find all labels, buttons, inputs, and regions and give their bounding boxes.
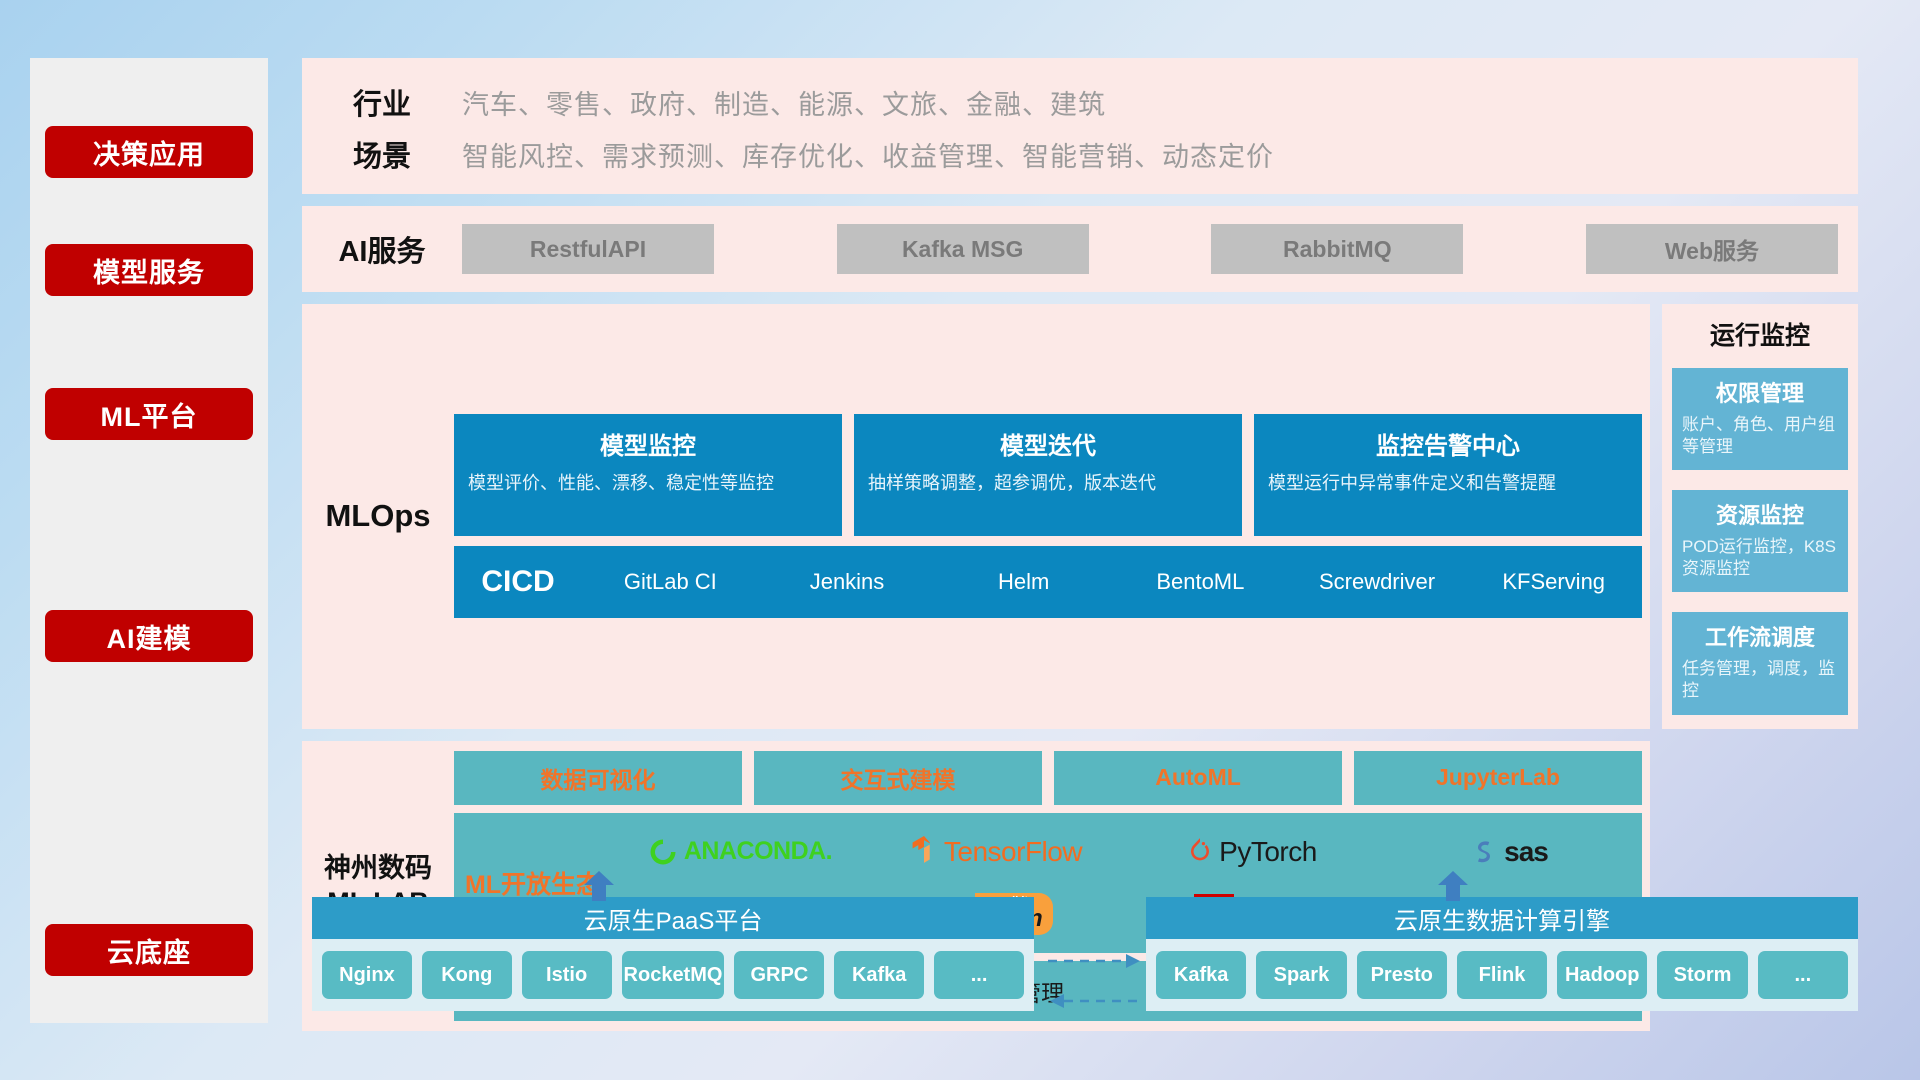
rail-tag-decision-apps[interactable]: 决策应用 (45, 126, 253, 178)
stage-rail: 决策应用 模型服务 ML平台 AI建模 云底座 (30, 58, 268, 1023)
up-arrow-icon (1436, 871, 1470, 901)
cloud-native-paas-group: 云原生PaaS平台 Nginx Kong Istio RocketMQ GRPC… (312, 897, 1034, 1011)
lab-tab-interactive-modeling[interactable]: 交互式建模 (754, 751, 1042, 805)
monitor-title: 运行监控 (1672, 316, 1848, 352)
monitor-card-workflow[interactable]: 工作流调度 任务管理，调度，监控 (1672, 612, 1848, 714)
cicd-item-gitlab-ci[interactable]: GitLab CI (582, 570, 759, 594)
scenario-key: 场景 (302, 133, 462, 175)
decision-apps-band: 行业 汽车、零售、政府、制造、能源、文旅、金融、建筑 场景 智能风控、需求预测、… (302, 58, 1858, 194)
cicd-label: CICD (454, 565, 582, 599)
pytorch-flame-icon (1187, 837, 1213, 867)
mlops-card-alert-center[interactable]: 监控告警中心 模型运行中异常事件定义和告警提醒 (1254, 414, 1642, 536)
mlops-band: MLOps 模型监控 模型评价、性能、漂移、稳定性等监控 模型迭代 抽样策略调整… (302, 304, 1650, 729)
sas-wordmark: sas (1504, 836, 1548, 868)
paas-title: 云原生PaaS平台 (312, 897, 1034, 939)
card-title: 工作流调度 (1682, 620, 1838, 652)
rail-tag-label: 云底座 (107, 931, 191, 970)
card-title: 资源监控 (1682, 498, 1838, 530)
paas-chip-more[interactable]: ... (934, 951, 1024, 999)
engine-chip-presto[interactable]: Presto (1357, 951, 1447, 999)
tensorflow-mark-icon (910, 836, 938, 868)
card-title: 权限管理 (1682, 376, 1838, 408)
mlops-body: 模型监控 模型评价、性能、漂移、稳定性等监控 模型迭代 抽样策略调整，超参调优，… (454, 414, 1642, 618)
mlops-key: MLOps (302, 498, 454, 534)
monitor-card-permission[interactable]: 权限管理 账户、角色、用户组等管理 (1672, 368, 1848, 470)
paas-chip-kong[interactable]: Kong (422, 951, 512, 999)
paas-chip-kafka[interactable]: Kafka (834, 951, 924, 999)
engine-chip-more[interactable]: ... (1758, 951, 1848, 999)
anaconda-wordmark: ANACONDA. (684, 837, 832, 866)
paas-chip-grpc[interactable]: GRPC (734, 951, 824, 999)
cloud-base-section: 云原生PaaS平台 Nginx Kong Istio RocketMQ GRPC… (302, 873, 1858, 1043)
card-desc: 任务管理，调度，监控 (1682, 658, 1838, 702)
cicd-item-helm[interactable]: Helm (935, 570, 1112, 594)
rail-tag-label: AI建模 (107, 617, 192, 656)
paas-chip-istio[interactable]: Istio (522, 951, 612, 999)
ai-service-chip-list: RestfulAPI Kafka MSG RabbitMQ Web服务 (462, 224, 1858, 274)
cicd-item-screwdriver[interactable]: Screwdriver (1289, 570, 1466, 594)
rail-tag-cloud-base[interactable]: 云底座 (45, 924, 253, 976)
lab-tab-automl[interactable]: AutoML (1054, 751, 1342, 805)
mlops-card-model-monitoring[interactable]: 模型监控 模型评价、性能、漂移、稳定性等监控 (454, 414, 842, 536)
data-engine-chip-list: Kafka Spark Presto Flink Hadoop Storm ..… (1146, 939, 1858, 1011)
rail-tag-model-service[interactable]: 模型服务 (45, 244, 253, 296)
mlops-monitor-row: MLOps 模型监控 模型评价、性能、漂移、稳定性等监控 模型迭代 抽样策略调整… (302, 304, 1858, 729)
engine-chip-kafka[interactable]: Kafka (1156, 951, 1246, 999)
card-title: 模型迭代 (868, 426, 1228, 461)
engine-chip-hadoop[interactable]: Hadoop (1557, 951, 1647, 999)
card-desc: 账户、角色、用户组等管理 (1682, 414, 1838, 458)
scenario-value: 智能风控、需求预测、库存优化、收益管理、智能营销、动态定价 (462, 135, 1274, 174)
paas-chip-list: Nginx Kong Istio RocketMQ GRPC Kafka ... (312, 939, 1034, 1011)
scenario-row: 场景 智能风控、需求预测、库存优化、收益管理、智能营销、动态定价 (302, 128, 1858, 180)
card-desc: 抽样策略调整，超参调优，版本迭代 (868, 471, 1228, 495)
anaconda-mark-icon (648, 837, 678, 867)
rail-tag-label: 决策应用 (93, 133, 205, 172)
cicd-item-bentoml[interactable]: BentoML (1112, 570, 1289, 594)
pytorch-wordmark: PyTorch (1219, 836, 1317, 868)
mlops-card-list: 模型监控 模型评价、性能、漂移、稳定性等监控 模型迭代 抽样策略调整，超参调优，… (454, 414, 1642, 536)
lab-tab-jupyterlab[interactable]: JupyterLab (1354, 751, 1642, 805)
cloud-native-data-engine-group: 云原生数据计算引擎 Kafka Spark Presto Flink Hadoo… (1146, 897, 1858, 1011)
cicd-item-list: GitLab CI Jenkins Helm BentoML Screwdriv… (582, 570, 1642, 594)
engine-chip-storm[interactable]: Storm (1657, 951, 1747, 999)
ai-chip-kafka-msg[interactable]: Kafka MSG (837, 224, 1089, 274)
industry-row: 行业 汽车、零售、政府、制造、能源、文旅、金融、建筑 (302, 76, 1858, 128)
cicd-bar: CICD GitLab CI Jenkins Helm BentoML Scre… (454, 546, 1642, 618)
runtime-monitor-band: 运行监控 权限管理 账户、角色、用户组等管理 资源监控 POD运行监控，K8S资… (1662, 304, 1858, 729)
data-engine-title: 云原生数据计算引擎 (1146, 897, 1858, 939)
up-arrow-icon (582, 871, 616, 901)
ai-chip-rabbitmq[interactable]: RabbitMQ (1211, 224, 1463, 274)
card-desc: POD运行监控，K8S资源监控 (1682, 536, 1838, 580)
cicd-item-jenkins[interactable]: Jenkins (759, 570, 936, 594)
card-title: 监控告警中心 (1268, 426, 1628, 461)
industry-value: 汽车、零售、政府、制造、能源、文旅、金融、建筑 (462, 83, 1106, 122)
ml-lab-tab-list: 数据可视化 交互式建模 AutoML JupyterLab (454, 751, 1642, 805)
ai-service-band: AI服务 RestfulAPI Kafka MSG RabbitMQ Web服务 (302, 206, 1858, 292)
card-desc: 模型评价、性能、漂移、稳定性等监控 (468, 471, 828, 495)
paas-chip-nginx[interactable]: Nginx (322, 951, 412, 999)
card-title: 模型监控 (468, 426, 828, 461)
lab-tab-data-visualization[interactable]: 数据可视化 (454, 751, 742, 805)
mlops-card-model-iteration[interactable]: 模型迭代 抽样策略调整，超参调优，版本迭代 (854, 414, 1242, 536)
paas-chip-rocketmq[interactable]: RocketMQ (622, 951, 725, 999)
engine-chip-spark[interactable]: Spark (1256, 951, 1346, 999)
bidirectional-link-arrows (1048, 949, 1142, 1019)
rail-tag-ai-modeling[interactable]: AI建模 (45, 610, 253, 662)
card-desc: 模型运行中异常事件定义和告警提醒 (1268, 471, 1628, 495)
rail-tag-label: ML平台 (101, 395, 198, 434)
ai-chip-restfulapi[interactable]: RestfulAPI (462, 224, 714, 274)
engine-chip-flink[interactable]: Flink (1457, 951, 1547, 999)
rail-tag-label: 模型服务 (93, 251, 205, 290)
cicd-item-kfserving[interactable]: KFServing (1465, 570, 1642, 594)
industry-key: 行业 (302, 81, 462, 123)
sas-mark-icon (1468, 837, 1498, 867)
rail-tag-ml-platform[interactable]: ML平台 (45, 388, 253, 440)
tensorflow-wordmark: TensorFlow (944, 836, 1082, 868)
monitor-card-resource[interactable]: 资源监控 POD运行监控，K8S资源监控 (1672, 490, 1848, 592)
ai-chip-web-service[interactable]: Web服务 (1586, 224, 1838, 274)
ai-service-key: AI服务 (302, 228, 462, 270)
